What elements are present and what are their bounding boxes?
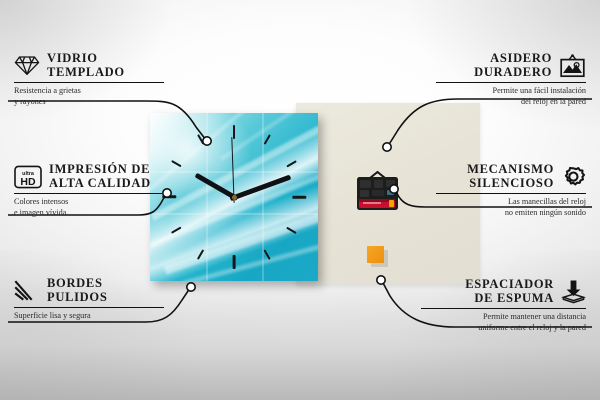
feature-espaciador-de-espuma: ESPACIADOR DE ESPUMA Permite mantener un… (421, 278, 586, 333)
feature-asidero-duradero: ASIDERO DURADERO Permite una fácil insta… (436, 52, 586, 107)
foam-spacer-icon (561, 279, 586, 304)
feature-description: Colores intensos e imagen vívida (14, 197, 162, 217)
hanging-frame-icon (559, 54, 586, 78)
feature-title-line1: ASIDERO (474, 52, 552, 66)
infographic-canvas: VIDRIO TEMPLADO Resistencia a grietas y … (0, 0, 600, 400)
feature-desc-line2: no emiten ningún sonido (436, 208, 586, 218)
feature-title-line2: TEMPLADO (47, 66, 125, 80)
feature-title-line2: SILENCIOSO (467, 177, 554, 191)
feature-description: Permite mantener una distancia uniforme … (421, 312, 586, 332)
feature-vidrio-templado: VIDRIO TEMPLADO Resistencia a grietas y … (14, 52, 164, 107)
feature-rule (421, 308, 586, 309)
feature-desc-line2: y rayones (14, 97, 164, 107)
feature-desc-line1: Permite mantener una distancia (421, 312, 586, 322)
feature-desc-line1: Resistencia a grietas (14, 86, 164, 96)
feature-desc-line1: Colores intensos (14, 197, 162, 207)
leader-dot-espaciador (377, 276, 385, 284)
feature-desc-line1: Permite una fácil instalación (436, 86, 586, 96)
feature-bordes-pulidos: BORDES PULIDOS Superficie lisa y segura (14, 277, 164, 322)
feature-desc-line2: uniforme entre el reloj y la pared (421, 323, 586, 333)
polished-edges-icon (14, 280, 40, 302)
feature-title-line2: PULIDOS (47, 291, 107, 305)
diamond-icon (14, 55, 40, 76)
feature-rule (436, 193, 586, 194)
feature-rule (14, 193, 162, 194)
feature-rule (14, 82, 164, 83)
feature-title-line1: VIDRIO (47, 52, 125, 66)
feature-title-line1: MECANISMO (467, 163, 554, 177)
feature-title-line1: IMPRESIÓN DE (49, 163, 151, 177)
feature-title-line1: BORDES (47, 277, 107, 291)
feature-desc-line1: Superficie lisa y segura (14, 311, 164, 321)
feature-desc-line2: e imagen vívida (14, 208, 162, 218)
feature-title-line2: DURADERO (474, 66, 552, 80)
feature-desc-line1: Las manecillas del reloj (436, 197, 586, 207)
leader-dot-bordes (187, 283, 195, 291)
ultra-hd-icon: ultra HD (14, 165, 42, 189)
feature-mecanismo-silencioso: MECANISMO SILENCIOSO Las manecillas del … (436, 163, 586, 218)
leader-dot-asidero (383, 143, 391, 151)
feature-desc-line2: del reloj en la pared (436, 97, 586, 107)
leader-dot-mecanismo (390, 185, 398, 193)
gear-icon (561, 164, 586, 189)
feature-description: Resistencia a grietas y rayones (14, 86, 164, 106)
feature-title-line1: ESPACIADOR (465, 278, 554, 292)
svg-text:HD: HD (20, 176, 36, 188)
feature-impresion-alta-calidad: ultra HD IMPRESIÓN DE ALTA CALIDAD Color… (14, 163, 162, 218)
feature-title-line2: ALTA CALIDAD (49, 177, 151, 191)
leader-dot-impresion (163, 189, 171, 197)
feature-description: Permite una fácil instalación del reloj … (436, 86, 586, 106)
feature-rule (14, 307, 164, 308)
feature-rule (436, 82, 586, 83)
feature-description: Superficie lisa y segura (14, 311, 164, 321)
leader-dot-vidrio (203, 137, 211, 145)
leader-vidrio (8, 101, 206, 140)
feature-description: Las manecillas del reloj no emiten ningú… (436, 197, 586, 217)
feature-title-line2: DE ESPUMA (465, 292, 554, 306)
